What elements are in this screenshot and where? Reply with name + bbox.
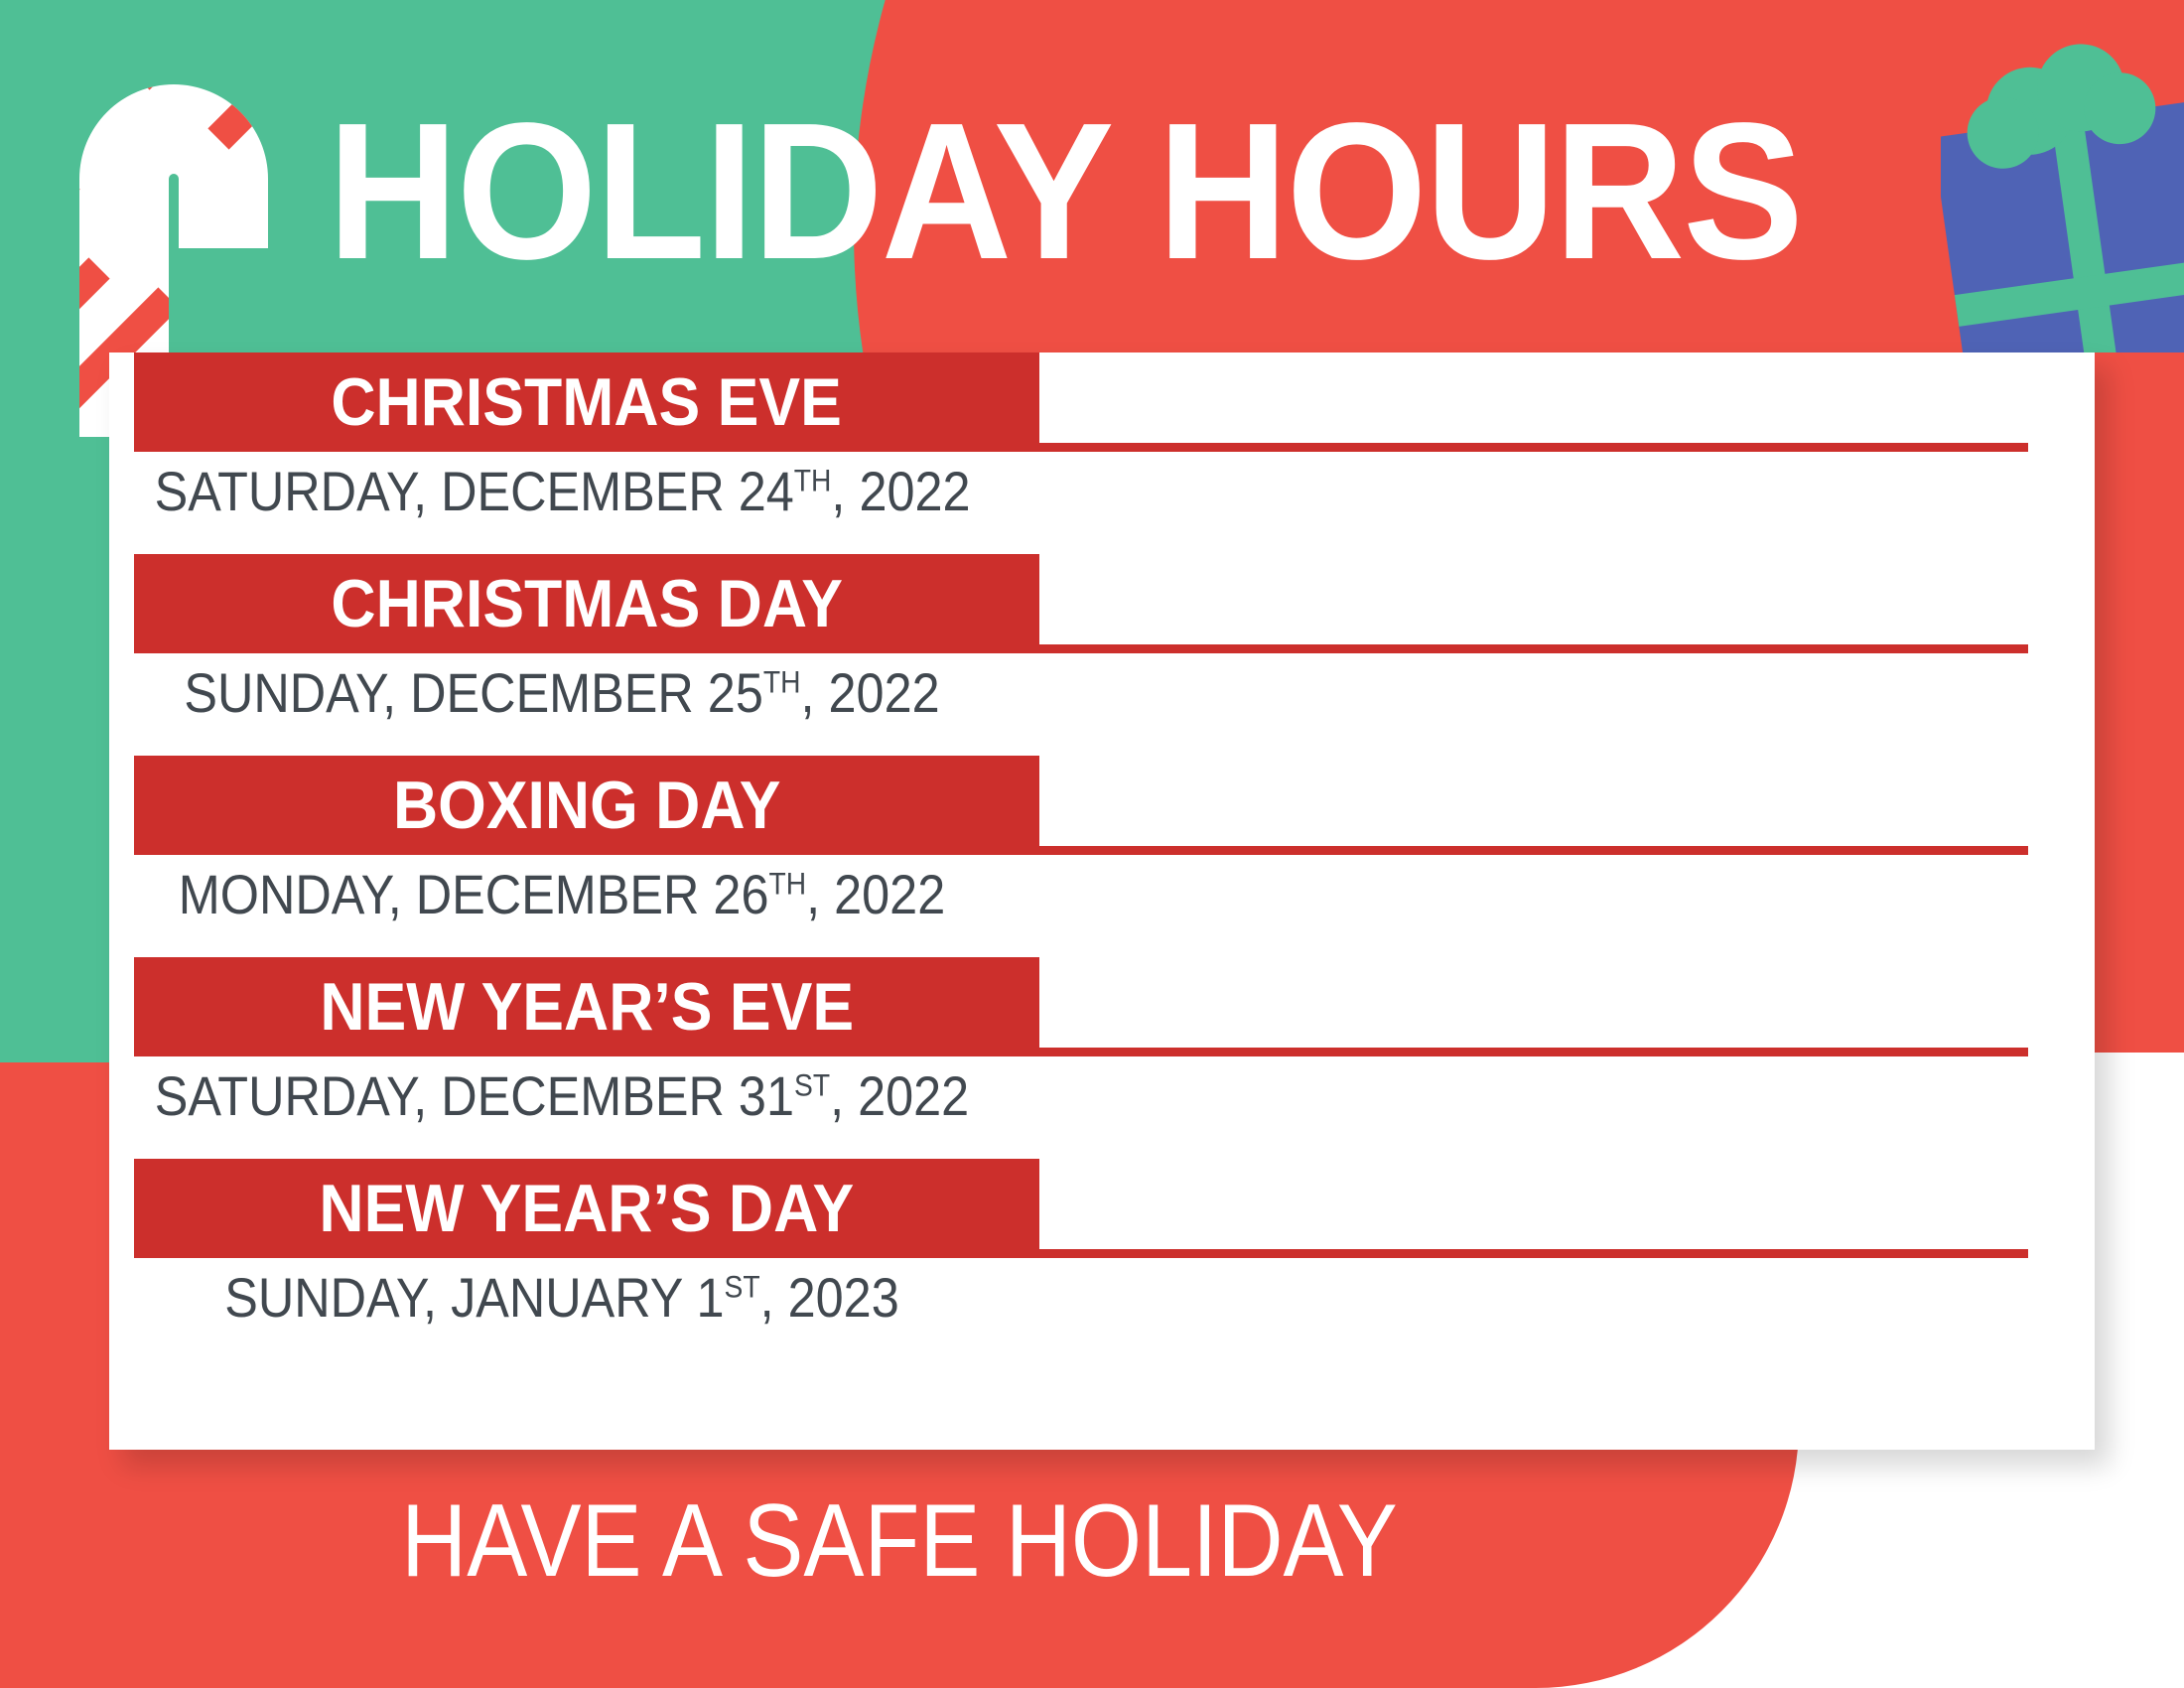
holiday-label-wrap: CHRISTMAS DAY — [134, 554, 2060, 678]
table-row: NEW YEAR’S DAY SUNDAY, JANUARY 1ST, 2023 — [109, 1159, 2095, 1357]
table-row: BOXING DAY MONDAY, DECEMBER 26TH, 2022 — [109, 756, 2095, 957]
holiday-name: CHRISTMAS EVE — [332, 368, 842, 436]
date-weekday: MONDAY, — [179, 863, 402, 925]
date-year: 2023 — [788, 1266, 899, 1329]
date-year: 2022 — [829, 661, 940, 724]
date-weekday: SATURDAY, — [155, 460, 427, 522]
date-weekday: SUNDAY, — [184, 661, 396, 724]
date-weekday: SUNDAY, — [224, 1266, 437, 1329]
holiday-label-wrap: BOXING DAY — [134, 756, 2060, 880]
hours-rule — [1039, 1048, 2028, 1056]
date-ordinal: TH — [763, 664, 801, 699]
hours-rule — [1039, 846, 2028, 855]
holiday-name: NEW YEAR’S EVE — [320, 973, 854, 1041]
table-row: NEW YEAR’S EVE SATURDAY, DECEMBER 31ST, … — [109, 957, 2095, 1159]
date-day: 25 — [708, 661, 763, 724]
date-day: 1 — [696, 1266, 724, 1329]
footer-message: HAVE A SAFE HOLIDAY — [108, 1489, 1692, 1593]
date-day: 31 — [739, 1064, 794, 1127]
holiday-label-wrap: NEW YEAR’S EVE — [134, 957, 2060, 1081]
holiday-date: SATURDAY, DECEMBER 31ST, 2022 — [155, 1066, 970, 1126]
hours-rule — [1039, 644, 2028, 653]
date-ordinal: ST — [794, 1067, 830, 1102]
hours-list: CHRISTMAS EVE SATURDAY, DECEMBER 24TH, 2… — [109, 352, 2095, 1357]
holiday-label-bar: BOXING DAY — [134, 756, 1039, 855]
date-ordinal: TH — [794, 463, 832, 497]
holiday-name: BOXING DAY — [393, 772, 781, 839]
holiday-hours-poster: HOLIDAY HOURS CHRISTMAS EVE SATURDAY, DE… — [0, 0, 2184, 1688]
hours-rule — [1039, 1249, 2028, 1258]
date-month: DECEMBER — [441, 460, 725, 522]
date-day: 26 — [713, 863, 768, 925]
table-row: CHRISTMAS DAY SUNDAY, DECEMBER 25TH, 202… — [109, 554, 2095, 756]
holiday-label-wrap: CHRISTMAS EVE — [134, 352, 2060, 477]
hours-card: CHRISTMAS EVE SATURDAY, DECEMBER 24TH, 2… — [109, 352, 2095, 1450]
date-year: 2022 — [858, 1064, 969, 1127]
table-row: CHRISTMAS EVE SATURDAY, DECEMBER 24TH, 2… — [109, 352, 2095, 554]
holiday-label-bar: CHRISTMAS DAY — [134, 554, 1039, 653]
date-month: DECEMBER — [441, 1064, 725, 1127]
holiday-date: MONDAY, DECEMBER 26TH, 2022 — [155, 865, 970, 924]
holiday-label-bar: CHRISTMAS EVE — [134, 352, 1039, 452]
holiday-date: SUNDAY, DECEMBER 25TH, 2022 — [155, 663, 970, 723]
holiday-label-wrap: NEW YEAR’S DAY — [134, 1159, 2060, 1283]
holiday-name: NEW YEAR’S DAY — [320, 1175, 855, 1242]
date-month: DECEMBER — [416, 863, 700, 925]
holiday-name: CHRISTMAS DAY — [331, 570, 843, 637]
holiday-date: SATURDAY, DECEMBER 24TH, 2022 — [155, 462, 970, 521]
date-month: DECEMBER — [410, 661, 694, 724]
holiday-label-bar: NEW YEAR’S DAY — [134, 1159, 1039, 1258]
date-weekday: SATURDAY, — [155, 1064, 427, 1127]
date-ordinal: ST — [725, 1269, 760, 1304]
holiday-label-bar: NEW YEAR’S EVE — [134, 957, 1039, 1056]
date-ordinal: TH — [768, 866, 806, 901]
date-year: 2022 — [859, 460, 970, 522]
page-title: HOLIDAY HOURS — [328, 94, 1802, 289]
date-month: JANUARY — [451, 1266, 682, 1329]
date-year: 2022 — [834, 863, 945, 925]
hours-rule — [1039, 443, 2028, 452]
holiday-date: SUNDAY, JANUARY 1ST, 2023 — [155, 1268, 970, 1328]
date-day: 24 — [739, 460, 794, 522]
gift-box-icon — [1941, 25, 2184, 352]
